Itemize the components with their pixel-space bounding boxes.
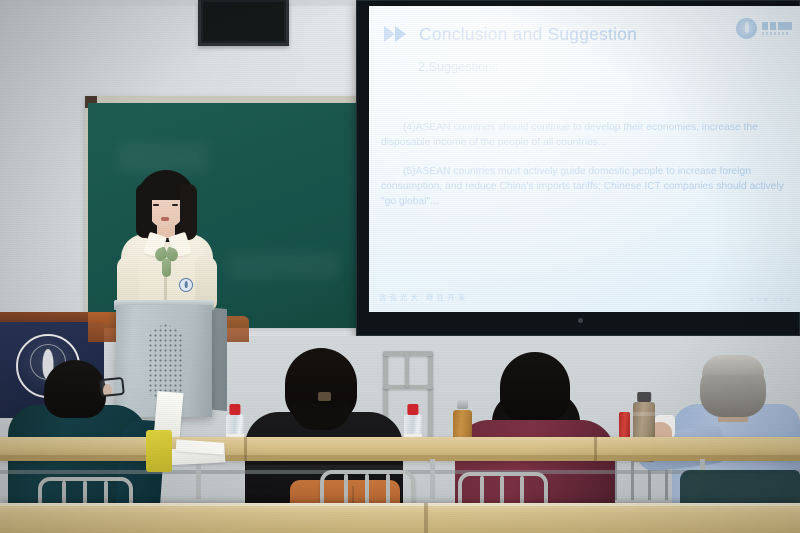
desk-row-middle-edge: [0, 455, 800, 461]
audience-member-4-hair: [702, 355, 764, 375]
desk-row-front-lip: [0, 503, 800, 506]
desk-seam: [244, 437, 247, 461]
slide-logo: [736, 18, 792, 39]
glasses-icon: [99, 377, 125, 397]
chalk-smudge: [228, 253, 338, 279]
slide-body: (4)ASEAN countries should continue to de…: [381, 120, 793, 223]
audience-member-3-head: [500, 352, 570, 422]
desk-seam: [424, 503, 428, 533]
audience-member-1-head: [44, 360, 106, 418]
slide-footer-motto: 含弘光大 继往开来: [379, 292, 468, 303]
screenshot-root: Conclusion and Suggestion 2.Suggestions …: [0, 0, 800, 533]
slide-title: Conclusion and Suggestion: [419, 24, 637, 45]
wall-speaker-panel: [198, 0, 289, 46]
desk-row-front: [0, 503, 800, 533]
chalk-smudge: [118, 143, 208, 173]
presenter-hair-left: [136, 184, 152, 238]
display-sensor-icon: [578, 318, 583, 323]
slide-footer: 含弘光大 继往开来 www.swu: [379, 292, 792, 303]
desk-seam: [594, 437, 597, 461]
side-table-left: [88, 312, 118, 342]
university-seal-icon: [736, 18, 757, 39]
double-triangle-icon: [384, 26, 410, 43]
slide-subtitle: 2.Suggestions: [418, 60, 499, 74]
slide-footer-url: www.swu: [750, 296, 793, 303]
university-wordmark-icon: [762, 22, 792, 35]
university-pin-icon: [179, 278, 193, 292]
presenter: [115, 170, 219, 320]
desk-leg: [196, 459, 201, 499]
presenter-bow-tie: [155, 248, 179, 278]
slide-paragraph: (4)ASEAN countries should continue to de…: [381, 120, 793, 150]
presentation-slide[interactable]: Conclusion and Suggestion 2.Suggestions …: [369, 6, 800, 312]
presenter-mouth: [161, 217, 169, 221]
tote-bag: [146, 430, 172, 472]
slide-title-row: Conclusion and Suggestion: [384, 24, 637, 45]
wall-panel-face: [203, 2, 284, 41]
hair-clip-icon: [318, 392, 331, 401]
slide-paragraph: (5)ASEAN countries must actively guide d…: [381, 164, 793, 209]
desk-leg: [430, 459, 435, 499]
